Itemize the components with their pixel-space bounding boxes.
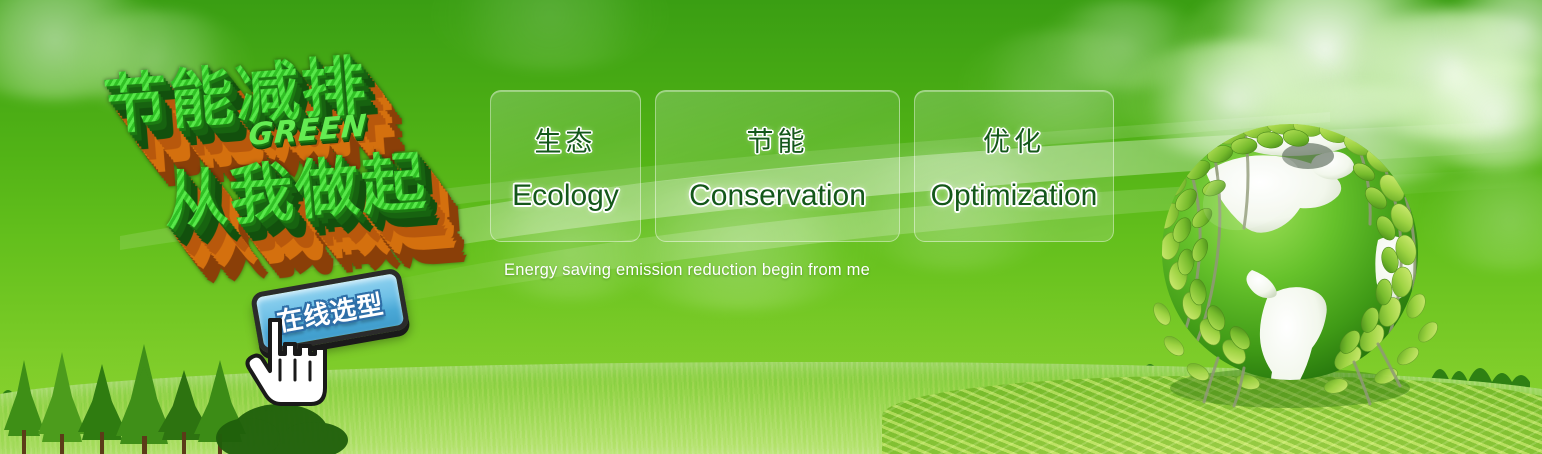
feature-card-cn-label: 节能 [747, 120, 809, 159]
banner-tagline: Energy saving emission reduction begin f… [504, 261, 870, 280]
feature-card-cn-label: 生态 [535, 120, 597, 159]
headline-line-2: 从我做起 [160, 130, 430, 242]
feature-card-conservation[interactable]: 节能 Conservation [655, 90, 900, 242]
pointing-hand-cursor-icon [242, 306, 334, 410]
cloud-icon [1040, 0, 1210, 90]
feature-card-list: 生态 Ecology 节能 Conservation 优化 Optimizati… [490, 90, 1114, 242]
feature-card-en-label: Optimization [931, 179, 1098, 213]
feature-card-en-label: Conservation [689, 179, 866, 213]
cta-area: 在线选型 [248, 272, 428, 368]
eco-promo-banner: 节能减排 GREEN 从我做起 在线选型 生态 Ecology 节能 Conse… [0, 0, 1542, 454]
feature-card-cn-label: 优化 [983, 120, 1045, 159]
feature-card-en-label: Ecology [512, 179, 619, 213]
cloud-icon [1440, 0, 1542, 80]
headline-3d: 节能减排 GREEN 从我做起 [90, 21, 507, 282]
leafy-earth-globe-icon [1140, 100, 1440, 410]
feature-card-optimization[interactable]: 优化 Optimization [914, 90, 1114, 242]
feature-card-ecology[interactable]: 生态 Ecology [490, 90, 641, 242]
